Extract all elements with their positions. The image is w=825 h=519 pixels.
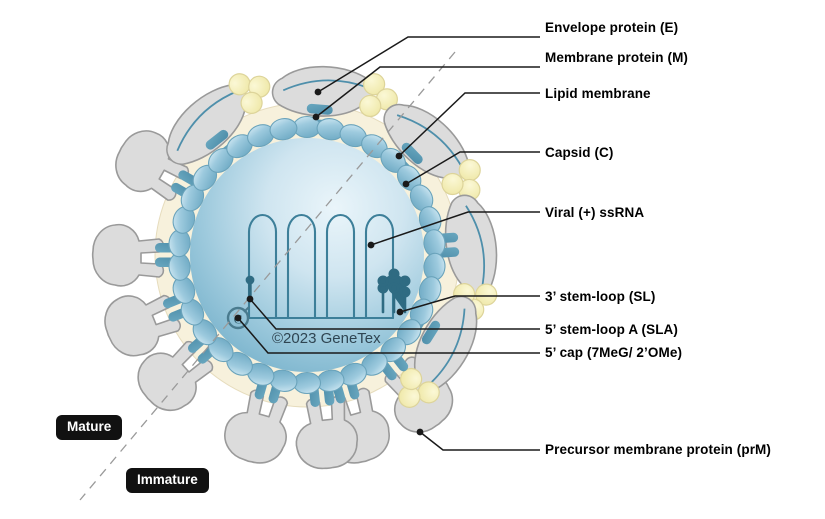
label-envelope-protein: Envelope protein (E): [545, 21, 678, 35]
leader-anchor-precursor-membrane-protein: [417, 429, 424, 436]
label-capsid: Capsid (C): [545, 146, 614, 160]
label-membrane-protein: Membrane protein (M): [545, 51, 688, 65]
capsid-unit: [294, 373, 321, 394]
leader-anchor-capsid: [403, 181, 410, 188]
leader-line-precursor-membrane-protein: [420, 432, 540, 450]
badge-immature: Immature: [126, 468, 209, 493]
badge-mature: Mature: [56, 415, 122, 440]
label-viral-ssrna: Viral (+) ssRNA: [545, 206, 644, 220]
label-three-prime-sl: 3’ stem-loop (SL): [545, 290, 655, 304]
leader-anchor-three-prime-sl: [397, 309, 404, 316]
label-five-prime-sla: 5’ stem-loop A (SLA): [545, 323, 678, 337]
figure-canvas: C ©2023 GeneTex Envelope protein (E: [0, 0, 825, 519]
watermark: ©2023 GeneTex: [272, 331, 381, 346]
leader-anchor-membrane-protein: [313, 114, 320, 121]
leader-anchor-five-prime-cap: [235, 315, 242, 322]
leader-anchor-lipid-membrane: [396, 153, 403, 160]
label-five-prime-cap: 5’ cap (7MeG/ 2’OMe): [545, 346, 682, 360]
leader-anchor-envelope-protein: [315, 89, 322, 96]
leader-anchor-five-prime-sla: [247, 296, 254, 303]
leader-anchor-viral-ssrna: [368, 242, 375, 249]
label-precursor-membrane-protein: Precursor membrane protein (prM): [545, 443, 771, 457]
label-lipid-membrane: Lipid membrane: [545, 87, 651, 101]
three-prime-sl-marker: [379, 270, 409, 312]
